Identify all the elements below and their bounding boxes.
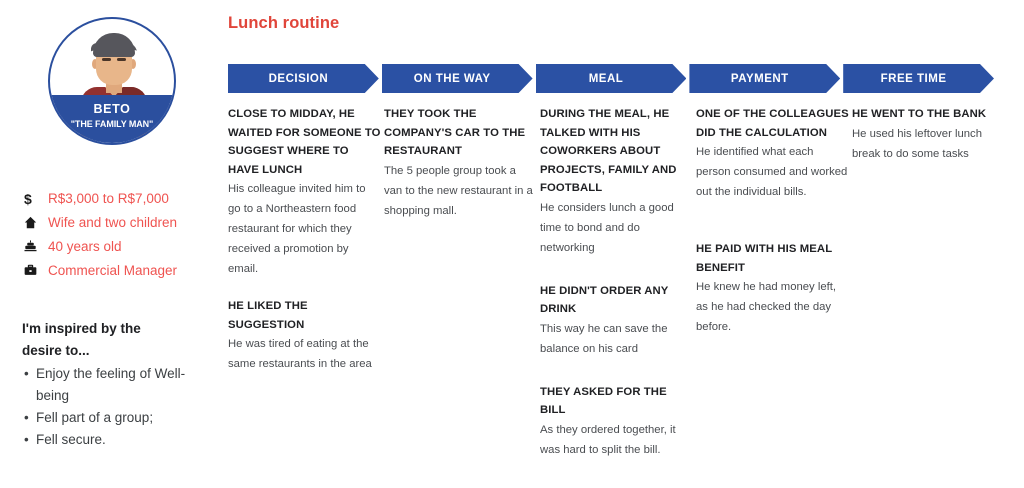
persona-fact-job-label: Commercial Manager <box>48 263 177 279</box>
journey-column-free-time: HE WENT TO THE BANK He used his leftover… <box>852 105 1005 480</box>
journey-card-title: ONE OF THE COLLEAGUES DID THE CALCULATIO… <box>696 105 849 142</box>
journey-card: HE WENT TO THE BANK He used his leftover… <box>852 105 1005 164</box>
stage-meal[interactable]: MEAL <box>536 64 687 93</box>
persona-fact-age-label: 40 years old <box>48 239 122 255</box>
stage-free-time[interactable]: FREE TIME <box>843 64 994 93</box>
persona-facts-list: $ R$3,000 to R$7,000 Wife and two childr… <box>24 188 214 284</box>
inspiration-item: Enjoy the feeling of Well-being <box>22 363 212 407</box>
journey-column-decision: CLOSE TO MIDDAY, HE WAITED FOR SOMEONE T… <box>228 105 381 480</box>
house-icon <box>24 216 48 231</box>
persona-tagline: "THE FAMILY MAN" <box>50 117 174 131</box>
journey-card-body: The 5 people group took a van to the new… <box>384 161 537 221</box>
journey-card-title: HE PAID WITH HIS MEAL BENEFIT <box>696 240 849 277</box>
journey-card-body: His colleague invited him to go to a Nor… <box>228 179 381 279</box>
dollar-sign-icon: $ <box>24 192 48 206</box>
journey-card-body: He used his leftover lunch break to do s… <box>852 124 1005 164</box>
journey-card-body: He identified what each person consumed … <box>696 142 849 202</box>
journey-card: HE PAID WITH HIS MEAL BENEFIT He knew he… <box>696 240 849 337</box>
journey-card-body: As they ordered together, it was hard to… <box>540 420 693 460</box>
journey-card: HE DIDN'T ORDER ANY DRINK This way he ca… <box>540 282 693 359</box>
avatar-name-banner: BETO "THE FAMILY MAN" <box>50 95 174 143</box>
inspiration-title: I'm inspired by the desire to... <box>22 318 212 362</box>
journey-card-title: CLOSE TO MIDDAY, HE WAITED FOR SOMEONE T… <box>228 105 381 179</box>
journey-card-title: HE LIKED THE SUGGESTION <box>228 297 381 334</box>
journey-card-body: He was tired of eating at the same resta… <box>228 334 381 374</box>
journey-column-meal: DURING THE MEAL, HE TALKED WITH HIS COWO… <box>540 105 693 480</box>
inspiration-item: Fell secure. <box>22 429 212 451</box>
journey-card: THEY TOOK THE COMPANY'S CAR TO THE RESTA… <box>384 105 537 221</box>
stage-label: ON THE WAY <box>414 73 491 85</box>
stage-label: FREE TIME <box>881 73 947 85</box>
journey-card: CLOSE TO MIDDAY, HE WAITED FOR SOMEONE T… <box>228 105 381 279</box>
journey-card-title: THEY TOOK THE COMPANY'S CAR TO THE RESTA… <box>384 105 537 161</box>
journey-card-title: THEY ASKED FOR THE BILL <box>540 383 693 420</box>
journey-card-body: He knew he had money left, as he had che… <box>696 277 849 337</box>
persona-fact-age: 40 years old <box>24 236 214 258</box>
journey-card: DURING THE MEAL, HE TALKED WITH HIS COWO… <box>540 105 693 258</box>
journey-card: HE LIKED THE SUGGESTION He was tired of … <box>228 297 381 374</box>
journey-card-title: HE WENT TO THE BANK <box>852 105 1005 124</box>
journey-card-body: He considers lunch a good time to bond a… <box>540 198 693 258</box>
stage-payment[interactable]: PAYMENT <box>689 64 840 93</box>
stage-label: MEAL <box>589 73 624 85</box>
journey-column-on-the-way: THEY TOOK THE COMPANY'S CAR TO THE RESTA… <box>384 105 537 480</box>
persona-panel: BETO "THE FAMILY MAN" $ R$3,000 to R$7,0… <box>0 0 222 488</box>
avatar: BETO "THE FAMILY MAN" <box>48 17 176 145</box>
stage-label: DECISION <box>269 73 329 85</box>
inspiration-title-line1: I'm inspired by the <box>22 318 212 340</box>
persona-fact-family: Wife and two children <box>24 212 214 234</box>
persona-fact-income: $ R$3,000 to R$7,000 <box>24 188 214 210</box>
stage-decision[interactable]: DECISION <box>228 64 379 93</box>
journey-card: ONE OF THE COLLEAGUES DID THE CALCULATIO… <box>696 105 849 202</box>
avatar-eye-left <box>102 58 111 61</box>
journey-map: Lunch routine DECISION ON THE WAY MEAL P… <box>222 0 1024 488</box>
stage-banner: DECISION ON THE WAY MEAL PAYMENT FREE TI… <box>228 64 994 93</box>
inspiration-block: I'm inspired by the desire to... Enjoy t… <box>22 318 212 451</box>
journey-card-body: This way he can save the balance on his … <box>540 319 693 359</box>
journey-card: THEY ASKED FOR THE BILL As they ordered … <box>540 383 693 460</box>
inspiration-item: Fell part of a group; <box>22 407 212 429</box>
stage-on-the-way[interactable]: ON THE WAY <box>382 64 533 93</box>
persona-fact-job: Commercial Manager <box>24 260 214 282</box>
stage-label: PAYMENT <box>731 73 789 85</box>
persona-fact-income-label: R$3,000 to R$7,000 <box>48 191 169 207</box>
journey-column-payment: ONE OF THE COLLEAGUES DID THE CALCULATIO… <box>696 105 849 480</box>
avatar-eye-right <box>117 58 126 61</box>
journey-card-title: HE DIDN'T ORDER ANY DRINK <box>540 282 693 319</box>
persona-fact-family-label: Wife and two children <box>48 215 177 231</box>
birthday-cake-icon <box>24 240 48 255</box>
journey-card-title: DURING THE MEAL, HE TALKED WITH HIS COWO… <box>540 105 693 198</box>
briefcase-icon <box>24 264 48 279</box>
inspiration-title-line2: desire to... <box>22 340 212 362</box>
persona-name: BETO <box>50 102 174 117</box>
journey-columns: CLOSE TO MIDDAY, HE WAITED FOR SOMEONE T… <box>228 105 1018 480</box>
page-title: Lunch routine <box>228 14 339 33</box>
